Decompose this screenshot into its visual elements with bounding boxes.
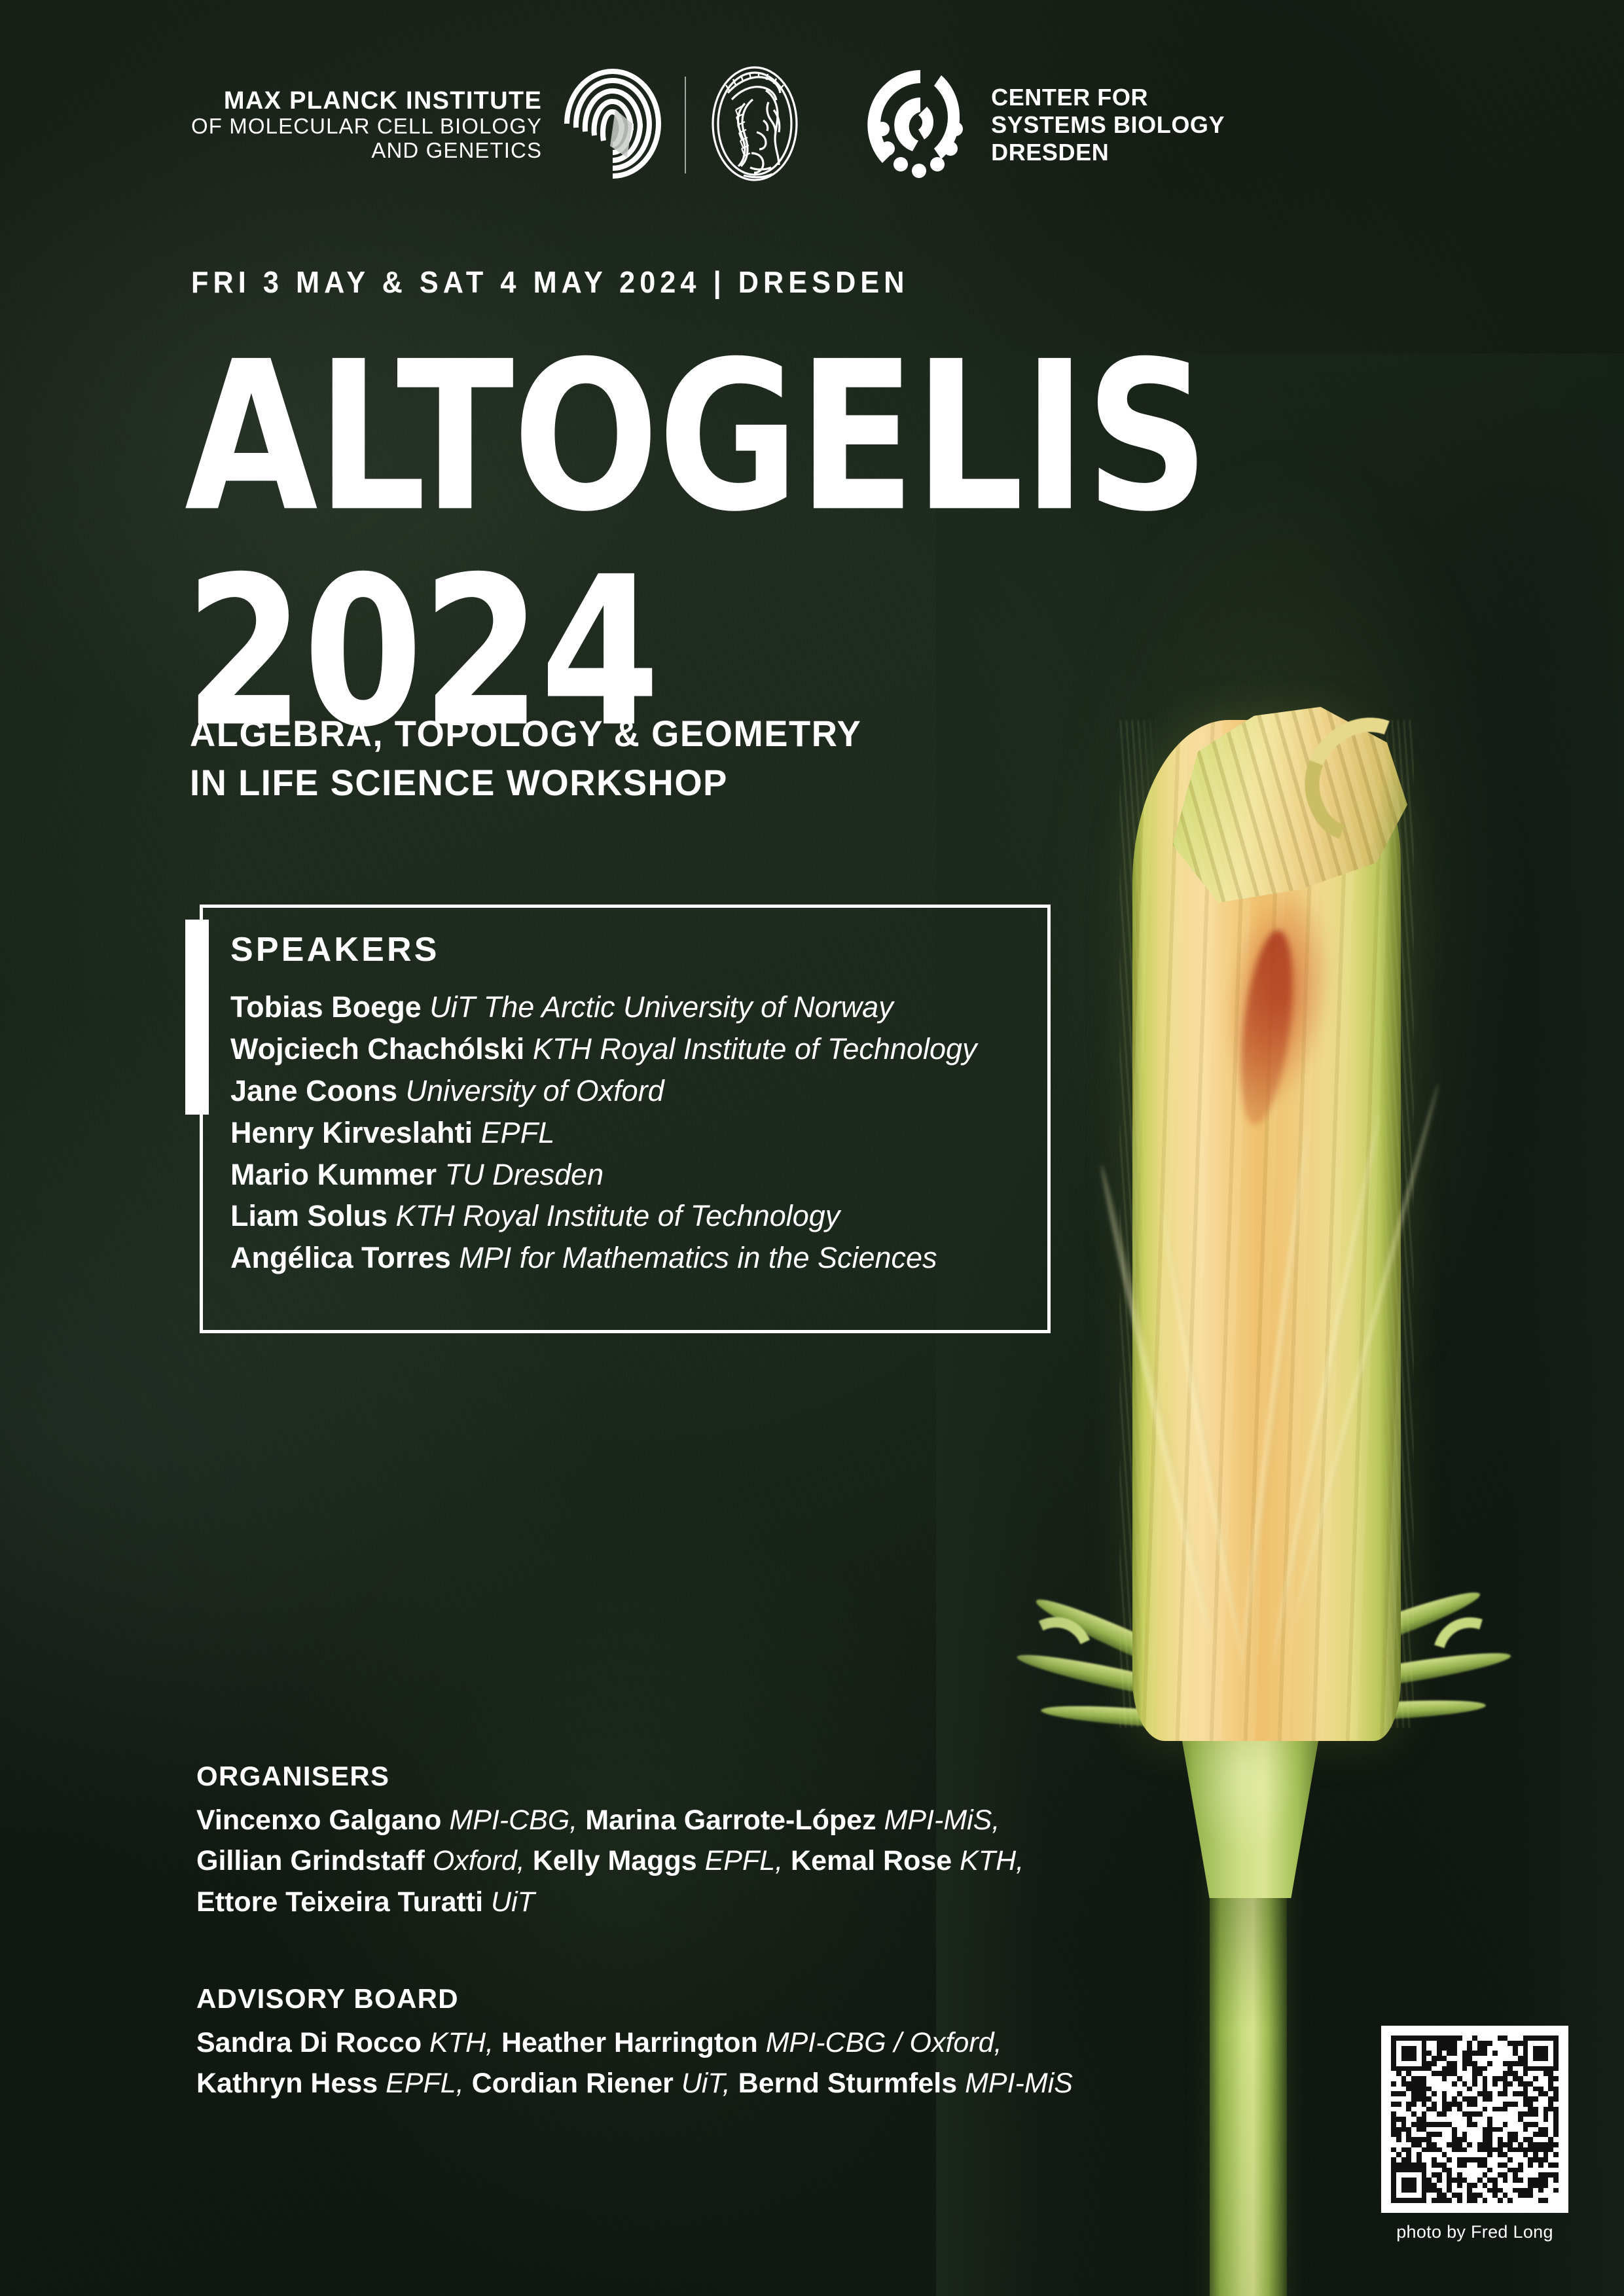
speaker-affiliation: UiT The Arctic University of Norway xyxy=(429,990,893,1024)
mpi-line-3: AND GENETICS xyxy=(371,139,542,163)
speaker-name: Tobias Boege xyxy=(230,990,422,1024)
speaker-row: Henry Kirveslahti EPFL xyxy=(230,1112,1047,1154)
advisor-affiliation: EPFL, xyxy=(386,2068,464,2099)
advisor-name: Bernd Sturmfels xyxy=(738,2068,958,2099)
speaker-name: Wojciech Chachólski xyxy=(230,1032,524,1066)
advisory-board-section: ADVISORY BOARD Sandra Di Rocco KTH, Heat… xyxy=(196,1983,1244,2104)
event-dateline: FRI 3 MAY & SAT 4 MAY 2024 | DRESDEN xyxy=(191,264,909,300)
advisor-name: Kathryn Hess xyxy=(196,2068,378,2099)
csbd-line-1: CENTER FOR xyxy=(991,84,1225,111)
organisers-line: Gillian Grindstaff Oxford, Kelly Maggs E… xyxy=(196,1840,1218,1881)
speaker-affiliation: University of Oxford xyxy=(406,1074,664,1107)
speaker-row: Wojciech Chachólski KTH Royal Institute … xyxy=(230,1028,1047,1070)
mpi-wordmark: MAX PLANCK INSTITUTE OF MOLECULAR CELL B… xyxy=(191,87,542,163)
advisory-board-heading: ADVISORY BOARD xyxy=(196,1983,1244,2015)
flower-fuzz-hairs xyxy=(1119,720,1414,1728)
speaker-affiliation: TU Dresden xyxy=(445,1158,604,1191)
advisor-name: Sandra Di Rocco xyxy=(196,2027,422,2058)
advisor-affiliation: MPI-CBG / Oxford, xyxy=(766,2027,1002,2058)
organiser-affiliation: UiT xyxy=(491,1886,535,1918)
speaker-affiliation: KTH Royal Institute of Technology xyxy=(396,1199,840,1232)
speakers-heading: SPEAKERS xyxy=(230,930,1047,969)
subtitle-line-1: ALGEBRA, TOPOLOGY & GEOMETRY xyxy=(190,709,861,758)
mpi-line-1: MAX PLANCK INSTITUTE xyxy=(224,87,542,115)
mpi-line-2: OF MOLECULAR CELL BIOLOGY xyxy=(191,115,542,139)
organiser-name: Kemal Rose xyxy=(791,1845,952,1876)
speaker-name: Henry Kirveslahti xyxy=(230,1116,473,1149)
title-main: ALTOGELIS xyxy=(185,351,1208,524)
advisory-board-line: Sandra Di Rocco KTH, Heather Harrington … xyxy=(196,2022,1244,2063)
poster: MAX PLANCK INSTITUTE OF MOLECULAR CELL B… xyxy=(0,0,1624,2296)
speaker-row: Tobias Boege UiT The Arctic University o… xyxy=(230,986,1047,1028)
organiser-affiliation: EPFL, xyxy=(705,1845,784,1876)
advisor-name: Heather Harrington xyxy=(501,2027,758,2058)
advisor-affiliation: KTH, xyxy=(429,2027,494,2058)
qr-code-icon[interactable] xyxy=(1381,2026,1568,2213)
organisers-line: Ettore Teixeira Turatti UiT xyxy=(196,1882,1218,1922)
speakers-panel: SPEAKERS Tobias Boege UiT The Arctic Uni… xyxy=(200,905,1051,1333)
csbd-wordmark: CENTER FOR SYSTEMS BIOLOGY DRESDEN xyxy=(991,84,1225,166)
organiser-name: Ettore Teixeira Turatti xyxy=(196,1886,483,1918)
advisor-affiliation: UiT, xyxy=(681,2068,731,2099)
mpi-fingerprint-icon xyxy=(560,69,665,182)
speaker-row: Liam Solus KTH Royal Institute of Techno… xyxy=(230,1195,1047,1237)
organiser-affiliation: MPI-CBG, xyxy=(449,1804,577,1836)
qr-code-block[interactable]: photo by Fred Long xyxy=(1381,2026,1568,2242)
csbd-line-3: DRESDEN xyxy=(991,139,1225,166)
speaker-row: Angélica Torres MPI for Mathematics in t… xyxy=(230,1237,1047,1279)
organisers-section: ORGANISERS Vincenxo Galgano MPI-CBG, Mar… xyxy=(196,1761,1218,1922)
event-subtitle: ALGEBRA, TOPOLOGY & GEOMETRY IN LIFE SCI… xyxy=(190,709,861,807)
qr-code-matrix xyxy=(1391,2036,1559,2203)
speaker-name: Liam Solus xyxy=(230,1199,388,1232)
organisers-line: Vincenxo Galgano MPI-CBG, Marina Garrote… xyxy=(196,1800,1218,1840)
speaker-name: Mario Kummer xyxy=(230,1158,437,1191)
speaker-affiliation: MPI for Mathematics in the Sciences xyxy=(459,1241,937,1274)
organiser-affiliation: MPI-MiS, xyxy=(884,1804,1000,1836)
csbd-spiral-icon xyxy=(864,66,977,185)
page-title: ALTOGELIS 2024 xyxy=(185,351,1188,708)
organisers-heading: ORGANISERS xyxy=(196,1761,1218,1792)
organiser-name: Marina Garrote-López xyxy=(585,1804,876,1836)
advisor-name: Cordian Riener xyxy=(472,2068,674,2099)
photo-credit: photo by Fred Long xyxy=(1381,2222,1568,2242)
organiser-name: Vincenxo Galgano xyxy=(196,1804,441,1836)
csbd-line-2: SYSTEMS BIOLOGY xyxy=(991,111,1225,139)
speaker-row: Jane Coons University of Oxford xyxy=(230,1070,1047,1112)
organiser-affiliation: Oxford, xyxy=(433,1845,525,1876)
institution-logos: MAX PLANCK INSTITUTE OF MOLECULAR CELL B… xyxy=(191,63,1225,187)
organiser-name: Kelly Maggs xyxy=(533,1845,697,1876)
max-planck-minerva-icon xyxy=(706,64,804,187)
speaker-name: Jane Coons xyxy=(230,1074,397,1107)
organiser-affiliation: KTH, xyxy=(960,1845,1024,1876)
speaker-row: Mario Kummer TU Dresden xyxy=(230,1154,1047,1196)
logo-divider xyxy=(685,77,686,173)
organiser-name: Gillian Grindstaff xyxy=(196,1845,425,1876)
speaker-affiliation: KTH Royal Institute of Technology xyxy=(533,1032,977,1066)
subtitle-line-2: IN LIFE SCIENCE WORKSHOP xyxy=(190,758,861,807)
speaker-name: Angélica Torres xyxy=(230,1241,451,1274)
advisor-affiliation: MPI-MiS xyxy=(965,2068,1073,2099)
advisory-board-line: Kathryn Hess EPFL, Cordian Riener UiT, B… xyxy=(196,2063,1244,2104)
speaker-affiliation: EPFL xyxy=(481,1116,555,1149)
